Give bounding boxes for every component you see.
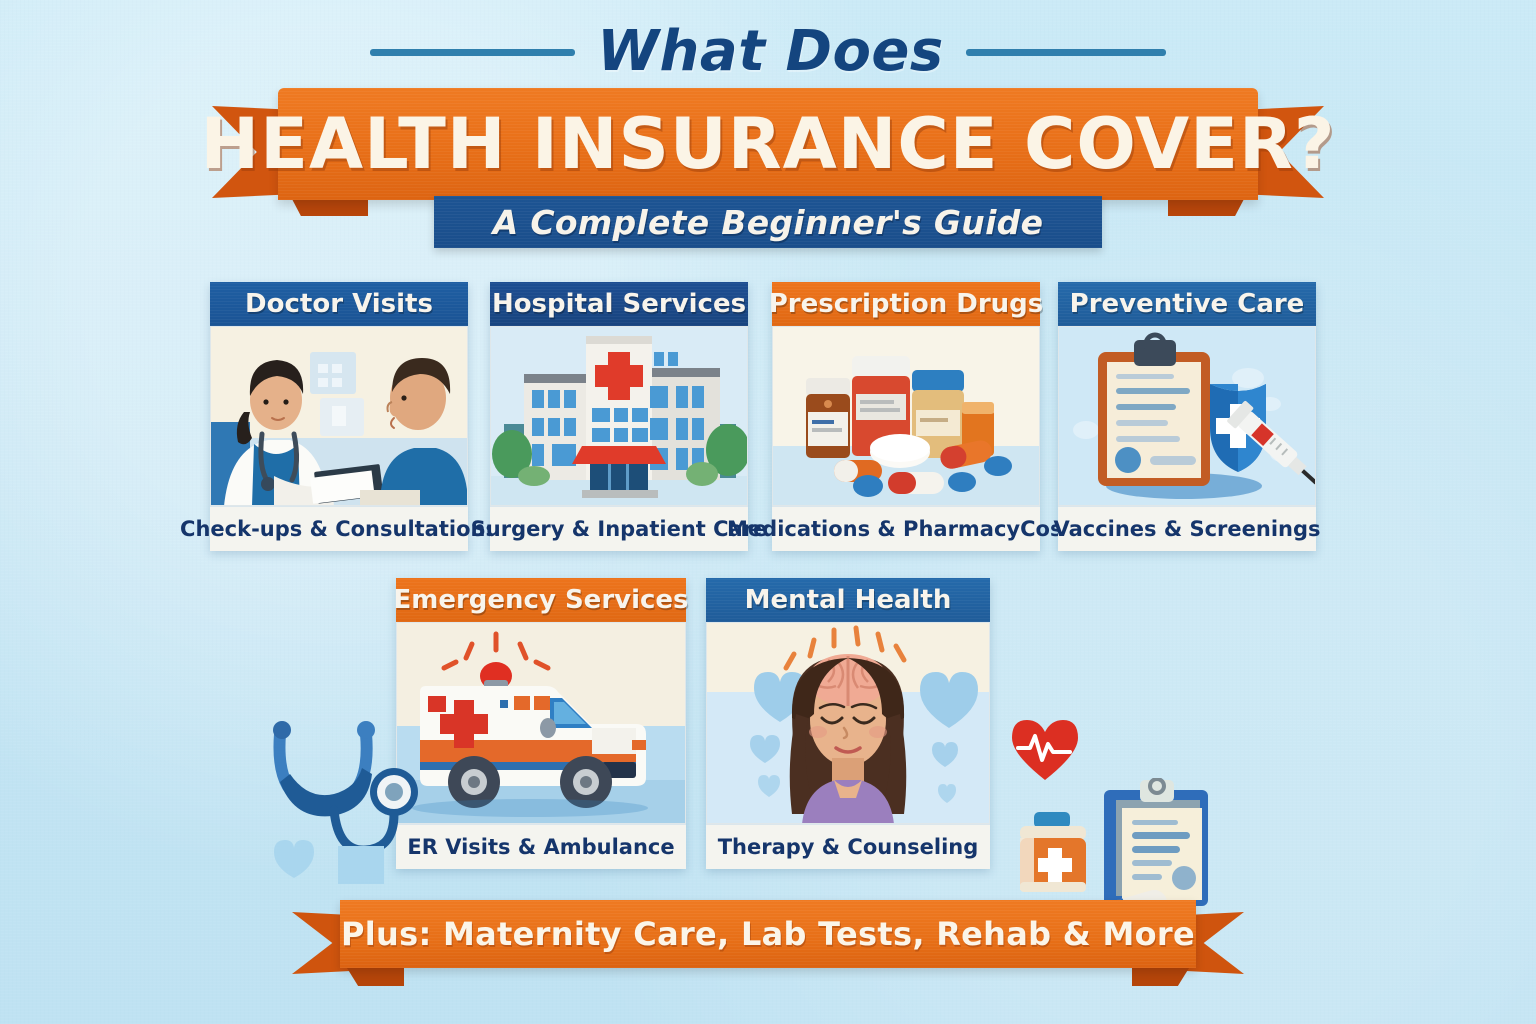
footer-ribbon: Plus: Maternity Care, Lab Tests, Rehab &… xyxy=(0,900,1536,990)
card-title: Hospital Services xyxy=(492,289,746,319)
clipboard-shield-syringe-illustration xyxy=(1058,326,1316,506)
card-header-hospital-services: Hospital Services xyxy=(490,282,748,326)
pill-bottles-illustration xyxy=(772,326,1040,506)
card-caption: Check-ups & Consultations xyxy=(180,517,498,541)
footer-ribbon-body: Plus: Maternity Care, Lab Tests, Rehab &… xyxy=(340,900,1196,968)
ambulance-illustration xyxy=(396,622,686,824)
card-hospital-services[interactable]: Hospital Services xyxy=(490,282,748,550)
card-title: Emergency Services xyxy=(393,585,688,615)
card-title: Mental Health xyxy=(745,585,952,615)
card-caption-bar: Vaccines & Screenings xyxy=(1058,506,1316,551)
rule-left-icon xyxy=(370,49,575,56)
woman-brain-hearts-illustration xyxy=(706,622,990,824)
infographic-canvas: What Does HEALTH INSURANCE COVER? A Comp… xyxy=(0,0,1536,1024)
card-mental-health[interactable]: Mental Health xyxy=(706,578,990,868)
kicker-text: What Does xyxy=(597,24,943,80)
hospital-building-illustration xyxy=(490,326,748,506)
card-header-preventive-care: Preventive Care xyxy=(1058,282,1316,326)
card-caption-bar: Therapy & Counseling xyxy=(706,824,990,869)
card-header-emergency-services: Emergency Services xyxy=(396,578,686,622)
card-caption: Surgery & Inpatient Care xyxy=(471,517,768,541)
card-caption: Therapy & Counseling xyxy=(718,835,979,859)
card-header-mental-health: Mental Health xyxy=(706,578,990,622)
title-ribbon: HEALTH INSURANCE COVER? xyxy=(0,88,1536,208)
card-preventive-care[interactable]: Preventive Care xyxy=(1058,282,1316,550)
card-prescription-drugs[interactable]: Prescription Drugs xyxy=(772,282,1040,550)
card-caption: Medications & PharmacyCosts xyxy=(727,517,1085,541)
card-caption-bar: Medications & PharmacyCosts xyxy=(772,506,1040,551)
header-kicker: What Does xyxy=(0,16,1536,88)
card-caption: ER Visits & Ambulance xyxy=(407,835,674,859)
card-caption: Vaccines & Screenings xyxy=(1053,517,1320,541)
main-title: HEALTH INSURANCE COVER? xyxy=(201,109,1336,179)
heartbeat-heart-icon xyxy=(1010,718,1080,782)
card-caption-bar: Check-ups & Consultations xyxy=(210,506,468,551)
footer-banner-text: Plus: Maternity Care, Lab Tests, Rehab &… xyxy=(341,915,1195,953)
card-header-prescription-drugs: Prescription Drugs xyxy=(772,282,1040,326)
card-title: Preventive Care xyxy=(1070,289,1305,319)
doctor-patient-illustration xyxy=(210,326,468,506)
ribbon-body: HEALTH INSURANCE COVER? xyxy=(278,88,1258,200)
rule-right-icon xyxy=(966,49,1166,56)
subtitle-text: A Complete Beginner's Guide xyxy=(493,203,1044,242)
card-caption-bar: Surgery & Inpatient Care xyxy=(490,506,748,551)
subtitle-band: A Complete Beginner's Guide xyxy=(434,196,1102,248)
card-title: Prescription Drugs xyxy=(769,289,1044,319)
card-title: Doctor Visits xyxy=(245,289,433,319)
stethoscope-icon xyxy=(246,700,426,890)
card-doctor-visits[interactable]: Doctor Visits xyxy=(210,282,468,550)
card-header-doctor-visits: Doctor Visits xyxy=(210,282,468,326)
card-emergency-services[interactable]: Emergency Services xyxy=(396,578,686,868)
card-caption-bar: ER Visits & Ambulance xyxy=(396,824,686,869)
